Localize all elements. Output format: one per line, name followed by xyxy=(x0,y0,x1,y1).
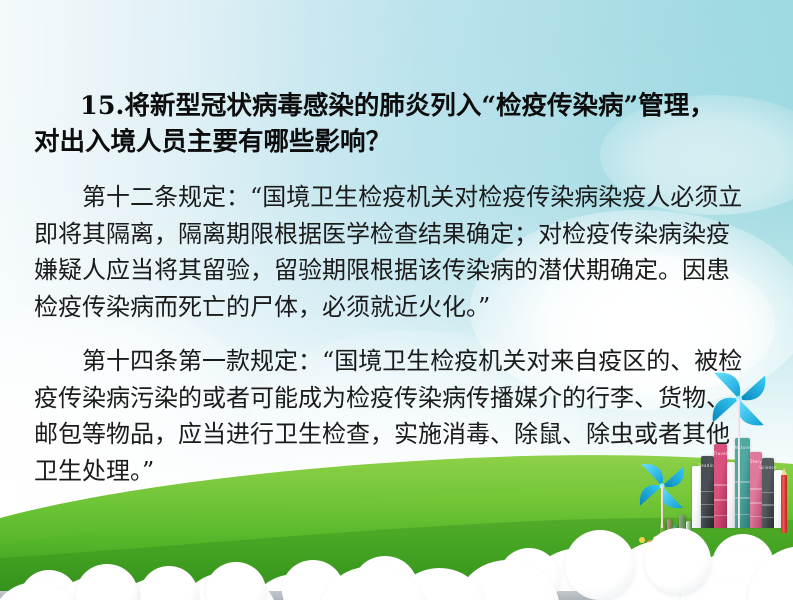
slide-canvas: ReadingTravelNatureStoryScience 15.将新型冠状… xyxy=(0,0,793,600)
slide-text-content: 15.将新型冠状病毒感染的肺炎列入“检疫传染病”管理，对出入境人员主要有哪些影响… xyxy=(0,0,793,600)
page-title: 15.将新型冠状病毒感染的肺炎列入“检疫传染病”管理，对出入境人员主要有哪些影响… xyxy=(34,88,734,160)
body-paragraph-article-14: 第十四条第一款规定：“国境卫生检疫机关对来自疫区的、被检疫传染病污染的或者可能成… xyxy=(34,343,744,489)
cloud-puff xyxy=(645,528,711,594)
cloud-puff xyxy=(565,530,635,600)
body-paragraph-article-12: 第十二条规定：“国境卫生检疫机关对检疫传染病染疫人必须立即将其隔离，隔离期限根据… xyxy=(34,179,744,325)
